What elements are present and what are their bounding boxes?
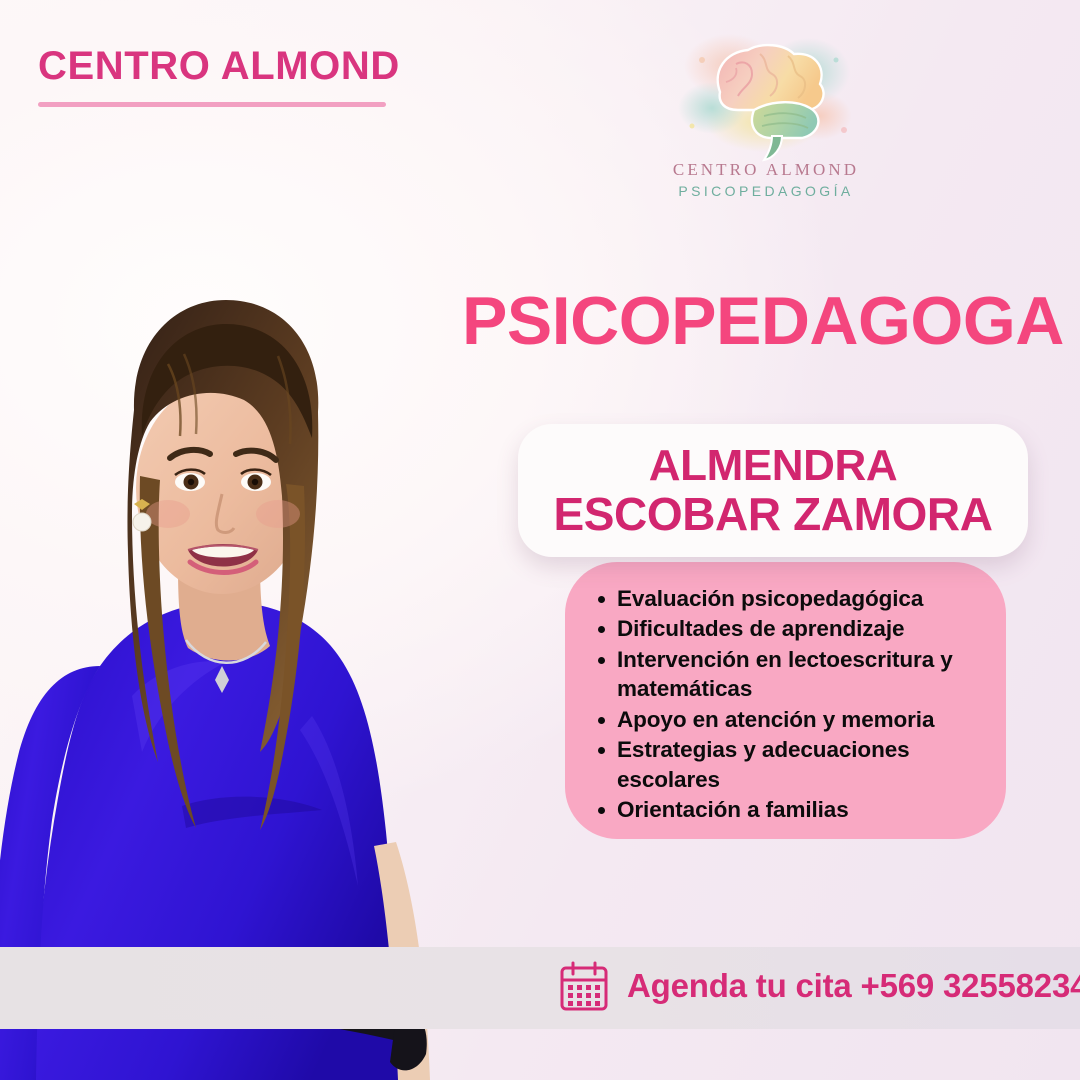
poster-canvas: CENTRO ALMOND: [0, 0, 1080, 1080]
watercolor-brain-icon: [668, 30, 864, 162]
service-text: Apoyo en atención y memoria: [617, 707, 934, 732]
practitioner-first-name: ALMENDRA: [649, 444, 898, 488]
brand-title: CENTRO ALMOND: [38, 46, 438, 86]
service-text-continued: escolares: [617, 765, 988, 794]
services-list: Evaluación psicopedagógica Dificultades …: [595, 584, 988, 825]
logo-name: CENTRO ALMOND: [668, 160, 864, 180]
brand-underline: [38, 102, 386, 107]
practitioner-name-card: ALMENDRA ESCOBAR ZAMORA: [518, 424, 1028, 557]
appointment-cta[interactable]: Agenda tu cita +569 32558234: [557, 959, 1080, 1013]
service-text: Dificultades de aprendizaje: [617, 616, 904, 641]
page-title: PSICOPEDAGOGA: [462, 287, 1064, 355]
brand-header: CENTRO ALMOND: [38, 46, 438, 107]
service-text: Orientación a familias: [617, 797, 849, 822]
service-text: Evaluación psicopedagógica: [617, 586, 923, 611]
logo-subtitle: PSICOPEDAGOGÍA: [668, 183, 864, 199]
service-text-continued: matemáticas: [617, 674, 988, 703]
appointment-text: Agenda tu cita +569 32558234: [627, 967, 1080, 1005]
list-item: Dificultades de aprendizaje: [595, 614, 988, 643]
list-item: Orientación a familias: [595, 795, 988, 824]
calendar-icon: [557, 959, 611, 1013]
services-panel: Evaluación psicopedagógica Dificultades …: [565, 562, 1006, 839]
list-item: Apoyo en atención y memoria: [595, 705, 988, 734]
list-item: Estrategias y adecuaciones escolares: [595, 735, 988, 794]
practitioner-last-name: ESCOBAR ZAMORA: [553, 491, 992, 537]
list-item: Intervención en lectoescritura y matemát…: [595, 645, 988, 704]
service-text: Intervención en lectoescritura y: [617, 647, 953, 672]
service-text: Estrategias y adecuaciones: [617, 737, 910, 762]
list-item: Evaluación psicopedagógica: [595, 584, 988, 613]
logo: CENTRO ALMOND PSICOPEDAGOGÍA: [668, 30, 864, 199]
